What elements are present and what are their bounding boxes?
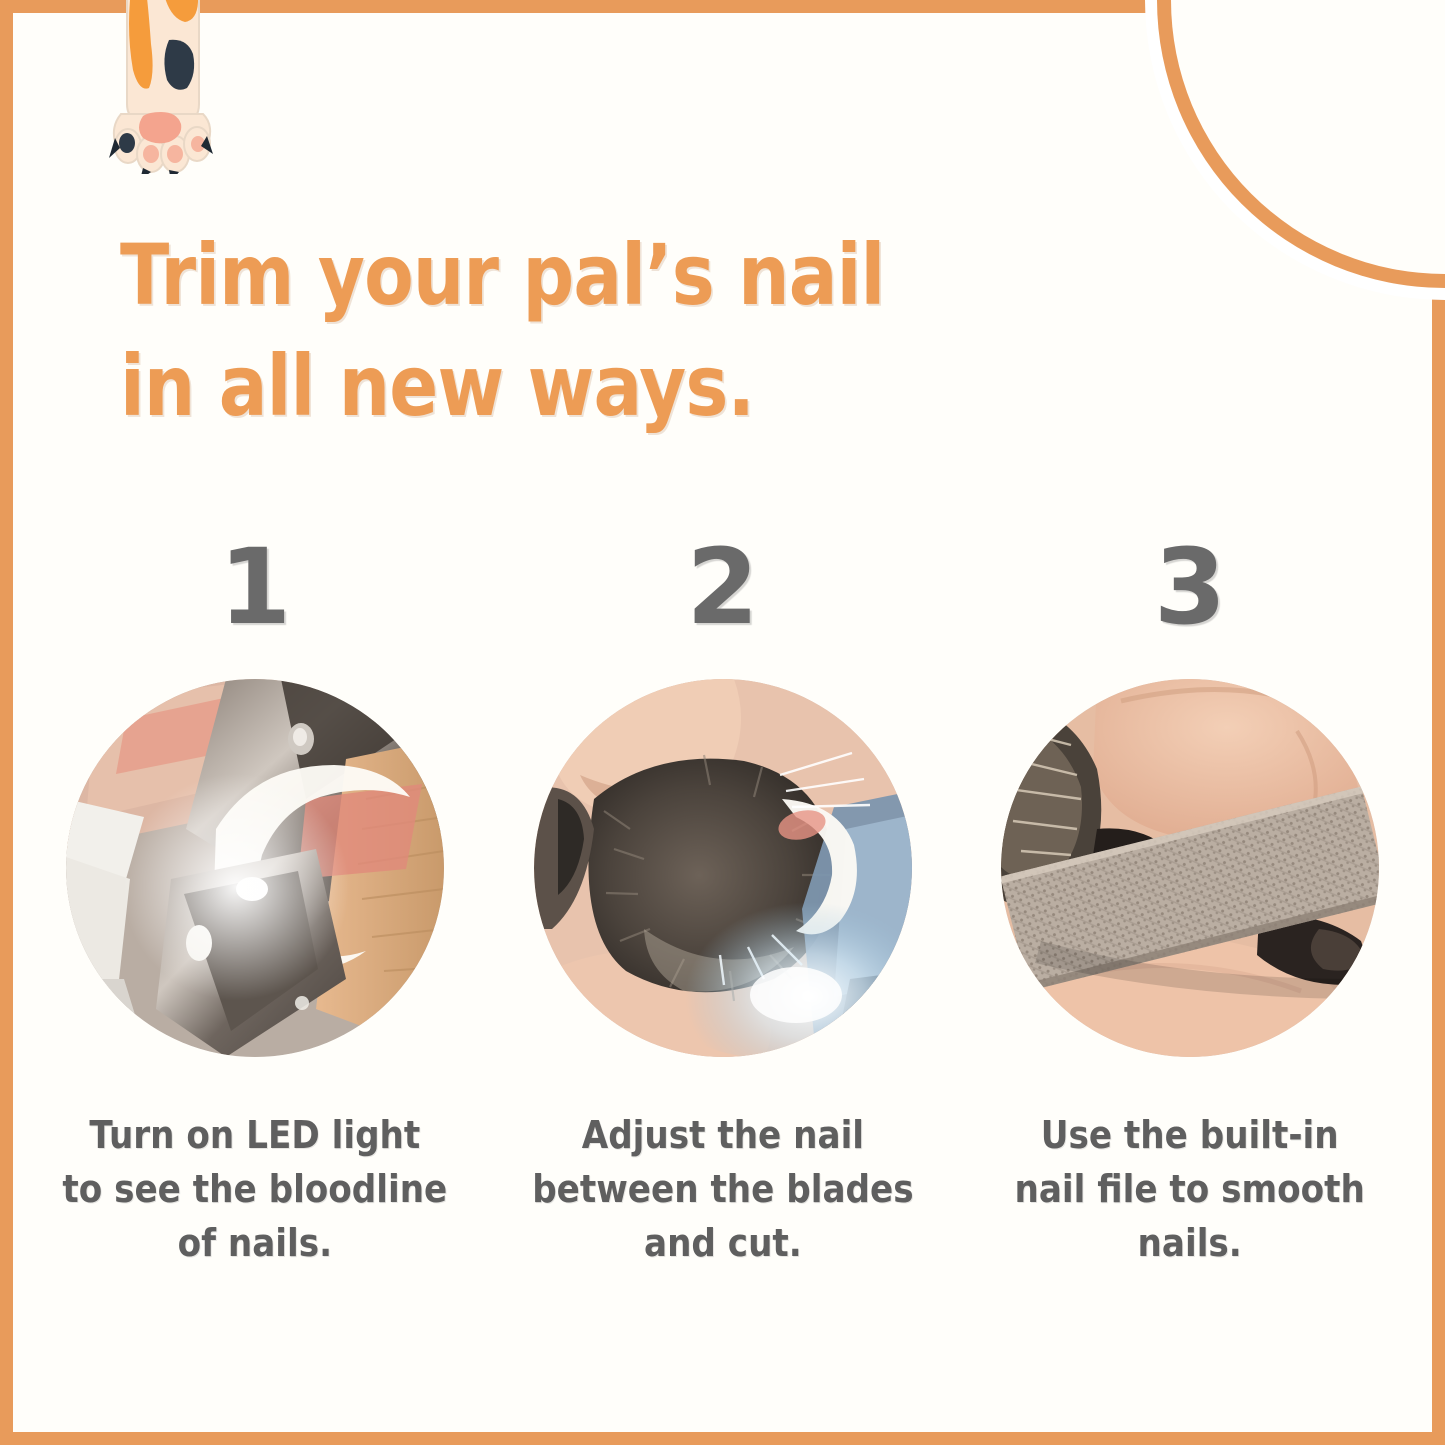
step-number-1: 1 bbox=[219, 535, 291, 647]
step-photo-2 bbox=[534, 679, 912, 1057]
cat-paw-icon bbox=[103, 0, 221, 174]
page-title: Trim your pal’s nail in all new ways. bbox=[120, 220, 894, 442]
step-caption-1: Turn on LED light to see the bloodline o… bbox=[63, 1109, 448, 1271]
step-3: 3 bbox=[975, 535, 1405, 1271]
step-number-3: 3 bbox=[1154, 535, 1226, 647]
step-number-2: 2 bbox=[686, 535, 758, 647]
step-1: 1 bbox=[40, 535, 470, 1271]
poster-frame: Trim your pal’s nail in all new ways. 1 bbox=[0, 0, 1445, 1445]
step-caption-2: Adjust the nail between the blades and c… bbox=[532, 1109, 913, 1271]
step-photo-3 bbox=[1001, 679, 1379, 1057]
step-caption-3: Use the built-in nail file to smooth nai… bbox=[1015, 1109, 1365, 1271]
step-photo-1 bbox=[66, 679, 444, 1057]
step-2: 2 bbox=[508, 535, 938, 1271]
steps-row: 1 bbox=[40, 535, 1405, 1271]
